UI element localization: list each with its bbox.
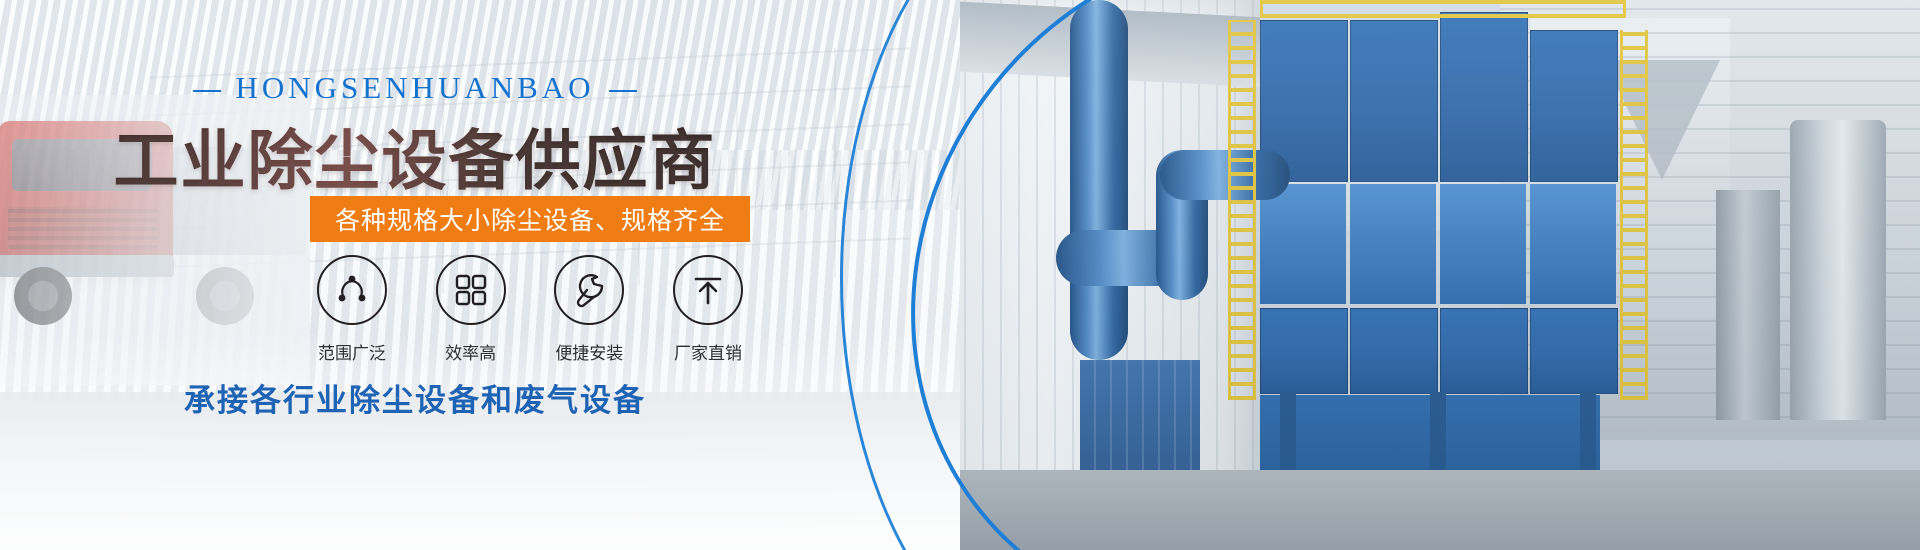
ribbon-text: 各种规格大小除尘设备、规格齐全 <box>335 201 725 237</box>
orange-ribbon: 各种规格大小除尘设备、规格齐全 <box>310 196 750 242</box>
feature-item-factory-direct[interactable]: 厂家直销 <box>656 255 760 364</box>
headline: 工业除尘设备供应商 <box>0 108 830 202</box>
dash-left-icon <box>193 90 221 92</box>
feature-label: 范围广泛 <box>318 339 386 364</box>
share-network-icon <box>317 255 387 325</box>
dash-right-icon <box>609 90 637 92</box>
brand-kicker: HONGSENHUANBAO <box>0 70 830 106</box>
brand-kicker-text: HONGSENHUANBAO <box>235 70 594 105</box>
wrench-icon <box>554 255 624 325</box>
feature-item-installation[interactable]: 便捷安装 <box>537 255 641 364</box>
feature-label: 厂家直销 <box>674 339 742 364</box>
hero-content: HONGSENHUANBAO 工业除尘设备供应商 各种规格大小除尘设备、规格齐全… <box>0 0 960 550</box>
feature-item-efficiency[interactable]: 效率高 <box>419 255 523 364</box>
grid-four-squares-icon <box>436 255 506 325</box>
hero-banner: HONGSENHUANBAO 工业除尘设备供应商 各种规格大小除尘设备、规格齐全… <box>0 0 1920 550</box>
feature-list: 范围广泛 效率高 <box>300 255 760 364</box>
feature-label: 便捷安装 <box>555 339 623 364</box>
arrow-up-bar-icon <box>673 255 743 325</box>
feature-item-range[interactable]: 范围广泛 <box>300 255 404 364</box>
bottom-tagline: 承接各行业除尘设备和废气设备 <box>0 375 830 420</box>
feature-label: 效率高 <box>445 339 496 364</box>
